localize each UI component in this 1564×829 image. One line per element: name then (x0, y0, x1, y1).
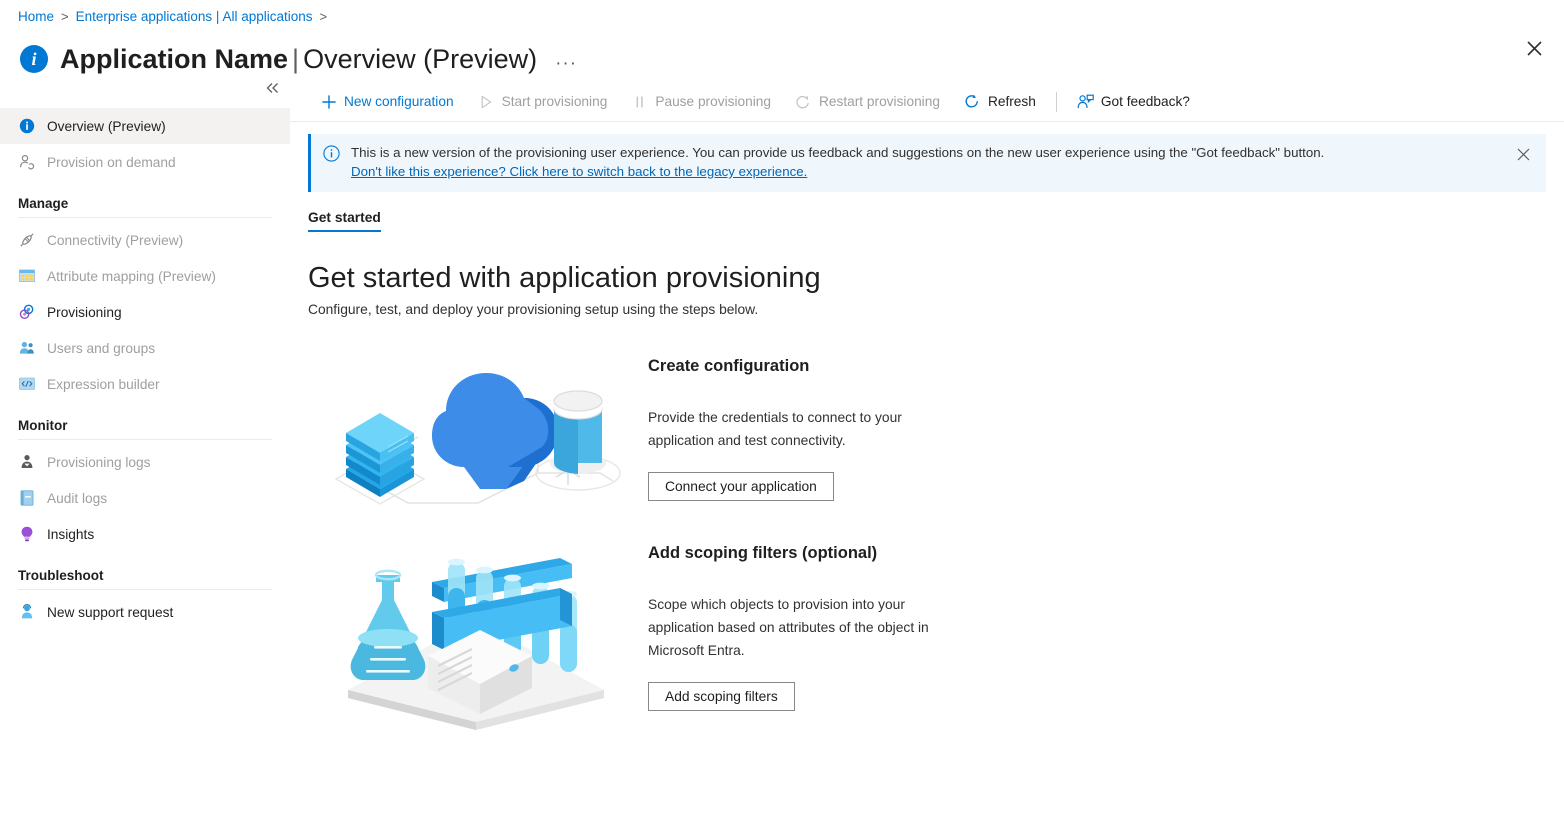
info-icon-glyph: i (31, 49, 36, 70)
sidebar-item-overview-preview[interactable]: Overview (Preview) (0, 108, 290, 144)
sidebar-group-divider (18, 589, 272, 590)
info-banner-body: This is a new version of the provisionin… (341, 143, 1502, 181)
command-toolbar: New configuration Start provisioning Pau… (290, 82, 1564, 122)
info-icon (18, 118, 35, 135)
step-card-title: Add scoping filters (optional) (648, 544, 1546, 563)
connect-your-application-button[interactable]: Connect your application (648, 472, 834, 501)
sidebar-item-label: Users and groups (47, 341, 155, 356)
section-subheading: Configure, test, and deploy your provisi… (308, 302, 1546, 317)
sidebar-item-new-support-request[interactable]: New support request (0, 594, 290, 630)
sidebar-group-troubleshoot: Troubleshoot (0, 552, 290, 587)
restart-icon (795, 93, 812, 110)
breadcrumb-separator: > (61, 8, 69, 26)
got-feedback-button[interactable]: Got feedback? (1065, 87, 1202, 117)
page-title-app-name: Application Name (60, 44, 288, 74)
book-icon (18, 490, 35, 507)
get-started-panel: Get started with application provisionin… (290, 232, 1564, 733)
add-scoping-filters-button[interactable]: Add scoping filters (648, 682, 795, 711)
step-card: Create configuration Provide the credent… (308, 351, 1546, 516)
pause-provisioning-button[interactable]: Pause provisioning (619, 87, 783, 117)
sidebar-item-attribute-mapping-preview[interactable]: Attribute mapping (Preview) (0, 258, 290, 294)
sidebar-item-label: Expression builder (47, 377, 160, 392)
legacy-experience-link[interactable]: Don't like this experience? Click here t… (351, 164, 807, 179)
breadcrumb-separator-end: > (320, 8, 328, 26)
info-icon: i (20, 45, 48, 73)
sidebar-group-monitor: Monitor (0, 402, 290, 437)
sidebar-item-provisioning-logs[interactable]: Provisioning logs (0, 444, 290, 480)
page-title: Application Name|Overview (Preview) (60, 43, 537, 75)
toolbar-button-label: Refresh (988, 94, 1036, 109)
step-card-body: Create configuration Provide the credent… (648, 351, 1546, 501)
toolbar-button-label: Got feedback? (1101, 94, 1190, 109)
more-options-button[interactable]: ··· (555, 49, 577, 69)
support-person-icon (18, 604, 35, 621)
sidebar-group-divider (18, 217, 272, 218)
sidebar-group-manage: Manage (0, 180, 290, 215)
lightbulb-icon (18, 526, 35, 543)
step-card-body: Add scoping filters (optional) Scope whi… (648, 538, 1546, 711)
sidebar-item-label: Provisioning (47, 305, 122, 320)
step-card-description: Provide the credentials to connect to yo… (648, 406, 938, 452)
sidebar-item-audit-logs[interactable]: Audit logs (0, 480, 290, 516)
banner-close-icon[interactable] (1512, 143, 1534, 165)
breadcrumb-item-enterprise-applications[interactable]: Enterprise applications | All applicatio… (76, 8, 313, 26)
sidebar-item-label: Provisioning logs (47, 455, 150, 470)
sidebar-item-label: Overview (Preview) (47, 119, 166, 134)
page-title-separator: | (292, 44, 299, 74)
info-banner: This is a new version of the provisionin… (308, 134, 1546, 192)
sidebar-item-provisioning[interactable]: Provisioning (0, 294, 290, 330)
sidebar-item-users-and-groups[interactable]: Users and groups (0, 330, 290, 366)
toolbar-button-label: Restart provisioning (819, 94, 940, 109)
sidebar-item-connectivity-preview[interactable]: Connectivity (Preview) (0, 222, 290, 258)
step-card: Add scoping filters (optional) Scope whi… (308, 538, 1546, 733)
page-header: i Application Name|Overview (Preview) ··… (0, 26, 1564, 82)
sidebar: Overview (Preview) Provision on demand M… (0, 82, 290, 811)
sidebar-item-insights[interactable]: Insights (0, 516, 290, 552)
sidebar-item-label: Audit logs (47, 491, 107, 506)
plus-icon (320, 93, 337, 110)
main-content: New configuration Start provisioning Pau… (290, 82, 1564, 811)
lab-flask-testtubes-illustration (308, 538, 648, 733)
toolbar-button-label: Start provisioning (502, 94, 608, 109)
tab-bar: Get started (290, 192, 1564, 232)
toolbar-button-label: New configuration (344, 94, 454, 109)
refresh-button[interactable]: Refresh (952, 87, 1048, 117)
toolbar-button-label: Pause provisioning (655, 94, 771, 109)
section-heading: Get started with application provisionin… (308, 260, 1546, 296)
feedback-person-icon (1077, 93, 1094, 110)
info-circle-icon (323, 145, 341, 162)
tab-get-started[interactable]: Get started (308, 210, 381, 232)
sidebar-item-provision-on-demand[interactable]: Provision on demand (0, 144, 290, 180)
breadcrumb-item-home[interactable]: Home (18, 8, 54, 26)
step-card-list: Create configuration Provide the credent… (308, 351, 1546, 733)
page-title-section: Overview (Preview) (303, 44, 537, 74)
new-configuration-button[interactable]: New configuration (308, 87, 466, 117)
sidebar-item-label: New support request (47, 605, 173, 620)
sidebar-item-label: Attribute mapping (Preview) (47, 269, 216, 284)
sync-circles-icon (18, 304, 35, 321)
users-group-icon (18, 340, 35, 357)
close-icon[interactable] (1518, 32, 1550, 64)
info-banner-text: This is a new version of the provisionin… (351, 143, 1502, 162)
breadcrumb: Home > Enterprise applications | All app… (0, 0, 1564, 26)
tab-label: Get started (308, 210, 381, 225)
plug-icon (18, 232, 35, 249)
sidebar-item-label: Provision on demand (47, 155, 176, 170)
sidebar-item-label: Connectivity (Preview) (47, 233, 183, 248)
user-sync-icon (18, 154, 35, 171)
person-log-icon (18, 454, 35, 471)
sidebar-collapse-button[interactable] (0, 82, 290, 108)
refresh-icon (964, 93, 981, 110)
table-grid-icon (18, 268, 35, 285)
sidebar-item-label: Insights (47, 527, 94, 542)
pause-icon (631, 93, 648, 110)
toolbar-divider (1056, 92, 1057, 112)
sidebar-item-expression-builder[interactable]: Expression builder (0, 366, 290, 402)
code-brackets-icon (18, 376, 35, 393)
step-card-description: Scope which objects to provision into yo… (648, 593, 938, 662)
cloud-server-database-illustration (308, 351, 648, 516)
sidebar-group-divider (18, 439, 272, 440)
step-card-title: Create configuration (648, 357, 1546, 376)
restart-provisioning-button[interactable]: Restart provisioning (783, 87, 952, 117)
start-provisioning-button[interactable]: Start provisioning (466, 87, 620, 117)
play-icon (478, 93, 495, 110)
